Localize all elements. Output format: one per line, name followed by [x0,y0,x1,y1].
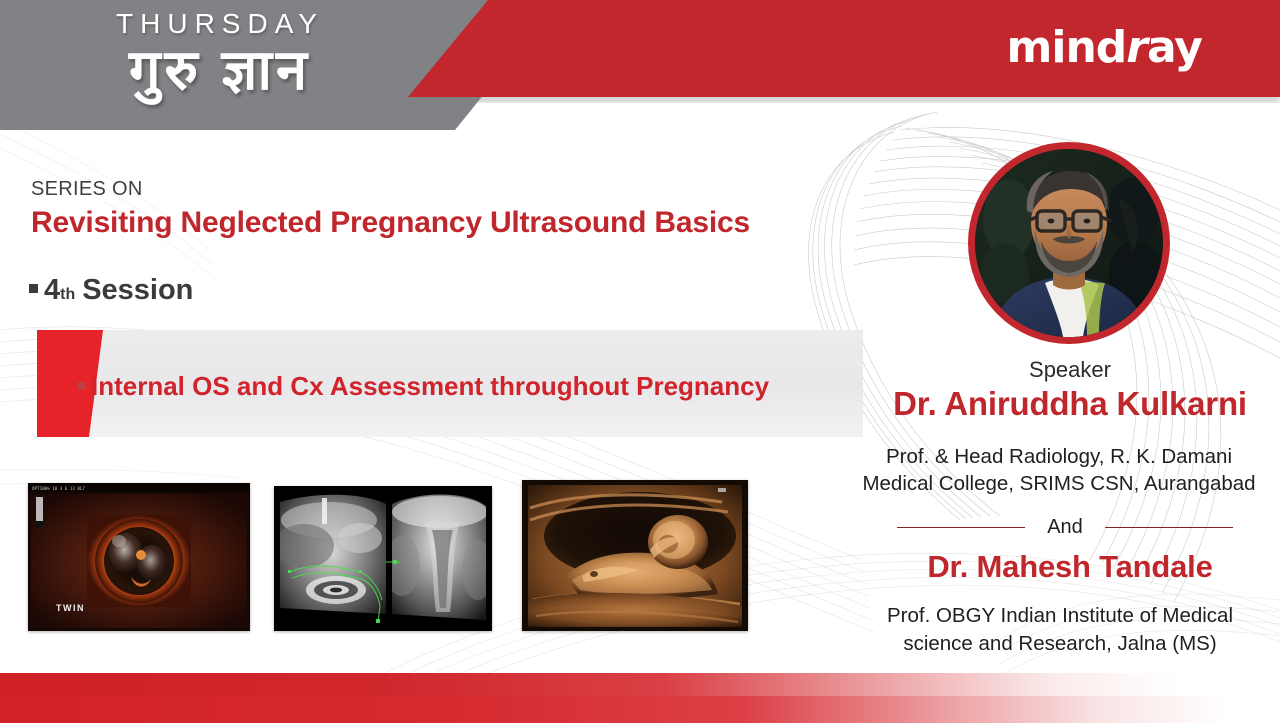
footer-bar-upper [0,673,1280,696]
square-bullet-icon [29,284,38,293]
session-word: Session [82,274,193,307]
topic-square-bullet-icon [78,382,86,390]
thumbnail-twin-gestation-ultrasound[interactable]: OPT100% 18 3 6 13 8L7 TWIN [28,483,250,631]
speaker-portrait-avatar [968,142,1170,344]
footer-bar-lower [0,696,1280,723]
session-number: 4 [44,274,60,307]
mindray-logo-part2: ay [1147,22,1202,73]
twin-thumb-caption: TWIN [56,603,85,613]
page-title: Revisiting Neglected Pregnancy Ultrasoun… [31,206,750,240]
speaker-label: Speaker [860,357,1280,383]
session-ordinal-suffix: th [60,286,75,304]
cervix-ultrasound-graphic [274,486,492,631]
secondary-speaker-affiliation-line1: Prof. OBGY Indian Institute of Medical [845,602,1275,630]
thursday-label: THURSDAY [0,8,440,40]
secondary-speaker-name: Dr. Mahesh Tandale [860,549,1280,585]
mindray-logo-part1: mind [1007,22,1127,73]
twin-thumb-header-text: OPT100% 18 3 6 13 8L7 [32,486,85,491]
session-number-line: 4thSession [29,274,193,307]
primary-speaker-affiliation-line1: Prof. & Head Radiology, R. K. Damani [838,443,1280,470]
secondary-speaker-affiliation: Prof. OBGY Indian Institute of Medical s… [845,602,1275,657]
mindray-logo-r: r [1126,22,1147,73]
thumbnail-fetus-3d-render-ultrasound[interactable] [522,480,748,631]
series-branding-block: THURSDAY गुरु ज्ञान [0,8,440,98]
secondary-speaker-affiliation-line2: science and Research, Jalna (MS) [845,630,1275,658]
mindray-logo: mindray [1007,22,1202,73]
series-kicker: SERIES ON [31,178,143,201]
twin-ultrasound-graphic: OPT100% 18 3 6 13 8L7 TWIN [28,483,250,631]
session-topic-text: Internal OS and Cx Assessment throughout… [91,371,769,402]
thumbnail-cervix-internal-os-ultrasound[interactable] [274,486,492,631]
divider-rule-left [897,527,1025,528]
divider-rule-right [1105,527,1233,528]
webinar-poster: THURSDAY गुरु ज्ञान mindray SERIES ON Re… [0,0,1280,723]
primary-speaker-name: Dr. Aniruddha Kulkarni [860,385,1280,423]
primary-speaker-affiliation-line2: Medical College, SRIMS CSN, Aurangabad [838,470,1280,497]
guru-gyan-devanagari-title: गुरु ज्ञान [0,42,440,98]
session-topic: Internal OS and Cx Assessment throughout… [78,371,769,402]
fetus-3d-ultrasound-graphic [522,480,748,631]
primary-speaker-affiliation: Prof. & Head Radiology, R. K. Damani Med… [838,443,1280,497]
speaker-photo [975,149,1163,337]
and-conjunction: And [1025,516,1105,539]
speakers-divider: And [855,512,1275,542]
